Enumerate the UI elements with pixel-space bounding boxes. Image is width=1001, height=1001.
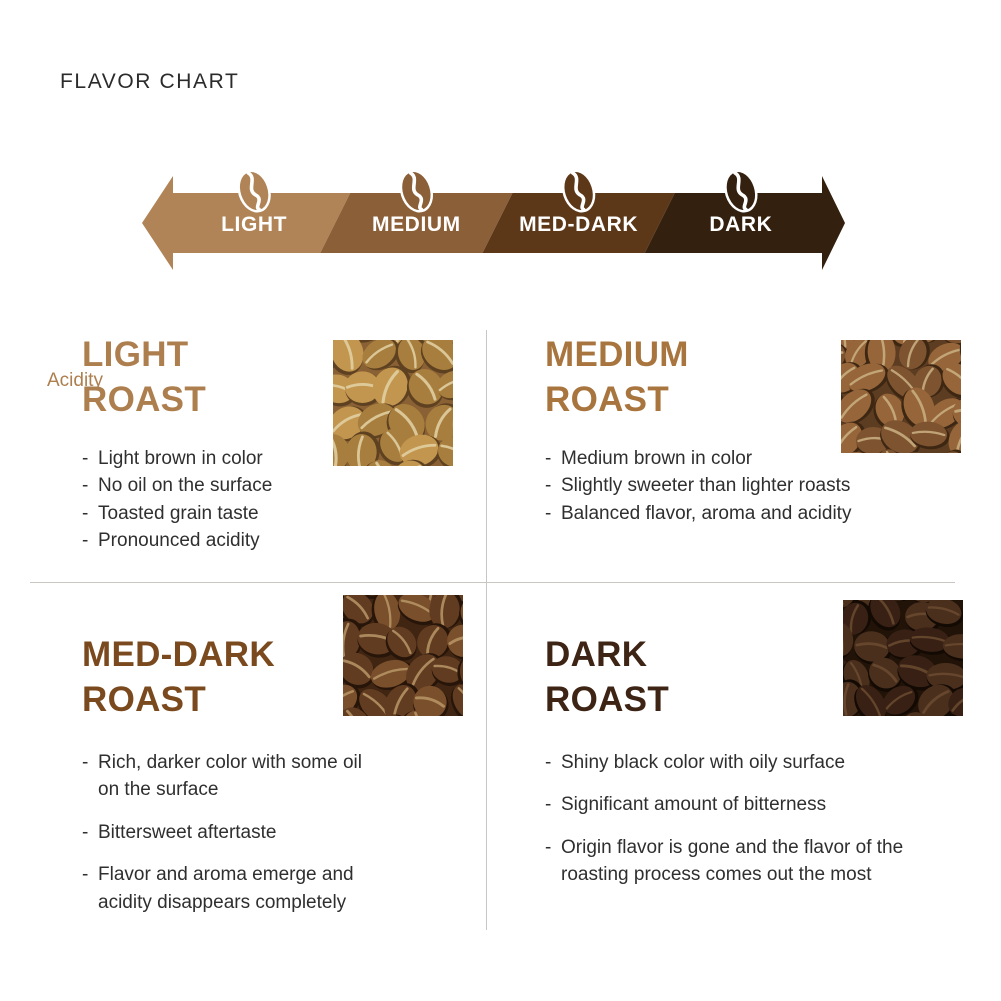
bullet-text: Significant amount of bitterness	[561, 794, 826, 815]
bullet-text: Origin flavor is gone and the flavor of …	[561, 837, 903, 886]
bullet-marker: -	[82, 861, 88, 889]
dark-roast-beans-photo	[843, 600, 963, 716]
bullet-text: Balanced flavor, aroma and acidity	[561, 503, 851, 524]
panel-divider-vertical	[486, 330, 487, 930]
light-roast-beans-photo	[333, 340, 453, 466]
bullet-item: -Shiny black color with oily surface	[545, 749, 935, 777]
panel-medium-roast-bullets: -Medium brown in color-Slightly sweeter …	[545, 445, 945, 528]
bullet-marker: -	[545, 445, 551, 473]
bullet-text: Toasted grain taste	[98, 503, 259, 524]
bullet-marker: -	[545, 472, 551, 500]
bullet-marker: -	[82, 819, 88, 847]
panel-dark-roast-heading: DARK ROAST	[545, 633, 845, 723]
bullet-item: -Flavor and aroma emerge and acidity dis…	[82, 861, 382, 916]
med-dark-roast-beans-photo	[343, 595, 463, 716]
panel-light-roast-heading: LIGHT ROAST	[82, 333, 332, 423]
panel-medium-roast-heading: MEDIUM ROAST	[545, 333, 845, 423]
flavor-chart-page: FLAVOR CHART Acidity Bitterness LIGHTMED…	[0, 0, 1001, 1001]
bullet-marker: -	[82, 527, 88, 555]
bullet-text: No oil on the surface	[98, 475, 272, 496]
bullet-marker: -	[82, 445, 88, 473]
bullet-text: Medium brown in color	[561, 448, 752, 469]
panel-divider-horizontal	[30, 582, 955, 583]
panel-medium-roast: MEDIUM ROAST -Medium brown in color-Slig…	[545, 333, 845, 527]
bullet-marker: -	[545, 791, 551, 819]
bullet-text: Rich, darker color with some oil on the …	[98, 752, 362, 801]
bullet-marker: -	[545, 749, 551, 777]
bullet-item: -Slightly sweeter than lighter roasts	[545, 472, 945, 500]
panel-dark-roast-bullets: -Shiny black color with oily surface-Sig…	[545, 749, 935, 889]
bullet-item: -Pronounced acidity	[82, 527, 382, 555]
bullet-text: Bittersweet aftertaste	[98, 822, 276, 843]
bullet-item: -Origin flavor is gone and the flavor of…	[545, 834, 935, 889]
scale-segment-label-dark: DARK	[709, 213, 772, 236]
bullet-text: Slightly sweeter than lighter roasts	[561, 475, 850, 496]
bullet-item: -Balanced flavor, aroma and acidity	[545, 500, 945, 528]
bullet-item: -No oil on the surface	[82, 472, 382, 500]
bullet-marker: -	[82, 472, 88, 500]
bullet-text: Pronounced acidity	[98, 530, 260, 551]
bullet-text: Flavor and aroma emerge and acidity disa…	[98, 864, 354, 913]
bullet-item: -Toasted grain taste	[82, 500, 382, 528]
bullet-text: Light brown in color	[98, 448, 263, 469]
bullet-item: -Significant amount of bitterness	[545, 791, 935, 819]
panel-med-dark-roast: MED-DARK ROAST -Rich, darker color with …	[82, 633, 342, 931]
bullet-item: -Rich, darker color with some oil on the…	[82, 749, 382, 804]
bullet-text: Shiny black color with oily surface	[561, 752, 845, 773]
scale-segment-label-light: LIGHT	[221, 213, 287, 236]
bullet-marker: -	[545, 834, 551, 862]
bullet-marker: -	[82, 500, 88, 528]
bullet-item: -Bittersweet aftertaste	[82, 819, 382, 847]
scale-segment-label-med-dark: MED-DARK	[519, 213, 638, 236]
medium-roast-beans-photo	[841, 340, 961, 453]
roast-scale-arrow: LIGHTMEDIUMMED-DARKDARK	[0, 160, 1001, 270]
roast-scale: Acidity Bitterness LIGHTMEDIUMMED-DARKDA…	[0, 160, 1001, 270]
page-title: FLAVOR CHART	[60, 70, 239, 94]
panel-dark-roast: DARK ROAST -Shiny black color with oily …	[545, 633, 845, 904]
bullet-marker: -	[545, 500, 551, 528]
panel-light-roast: LIGHT ROAST -Light brown in color-No oil…	[82, 333, 332, 555]
panel-med-dark-roast-bullets: -Rich, darker color with some oil on the…	[82, 749, 382, 917]
bullet-marker: -	[82, 749, 88, 777]
scale-segment-label-medium: MEDIUM	[372, 213, 461, 236]
panel-med-dark-roast-heading: MED-DARK ROAST	[82, 633, 342, 723]
